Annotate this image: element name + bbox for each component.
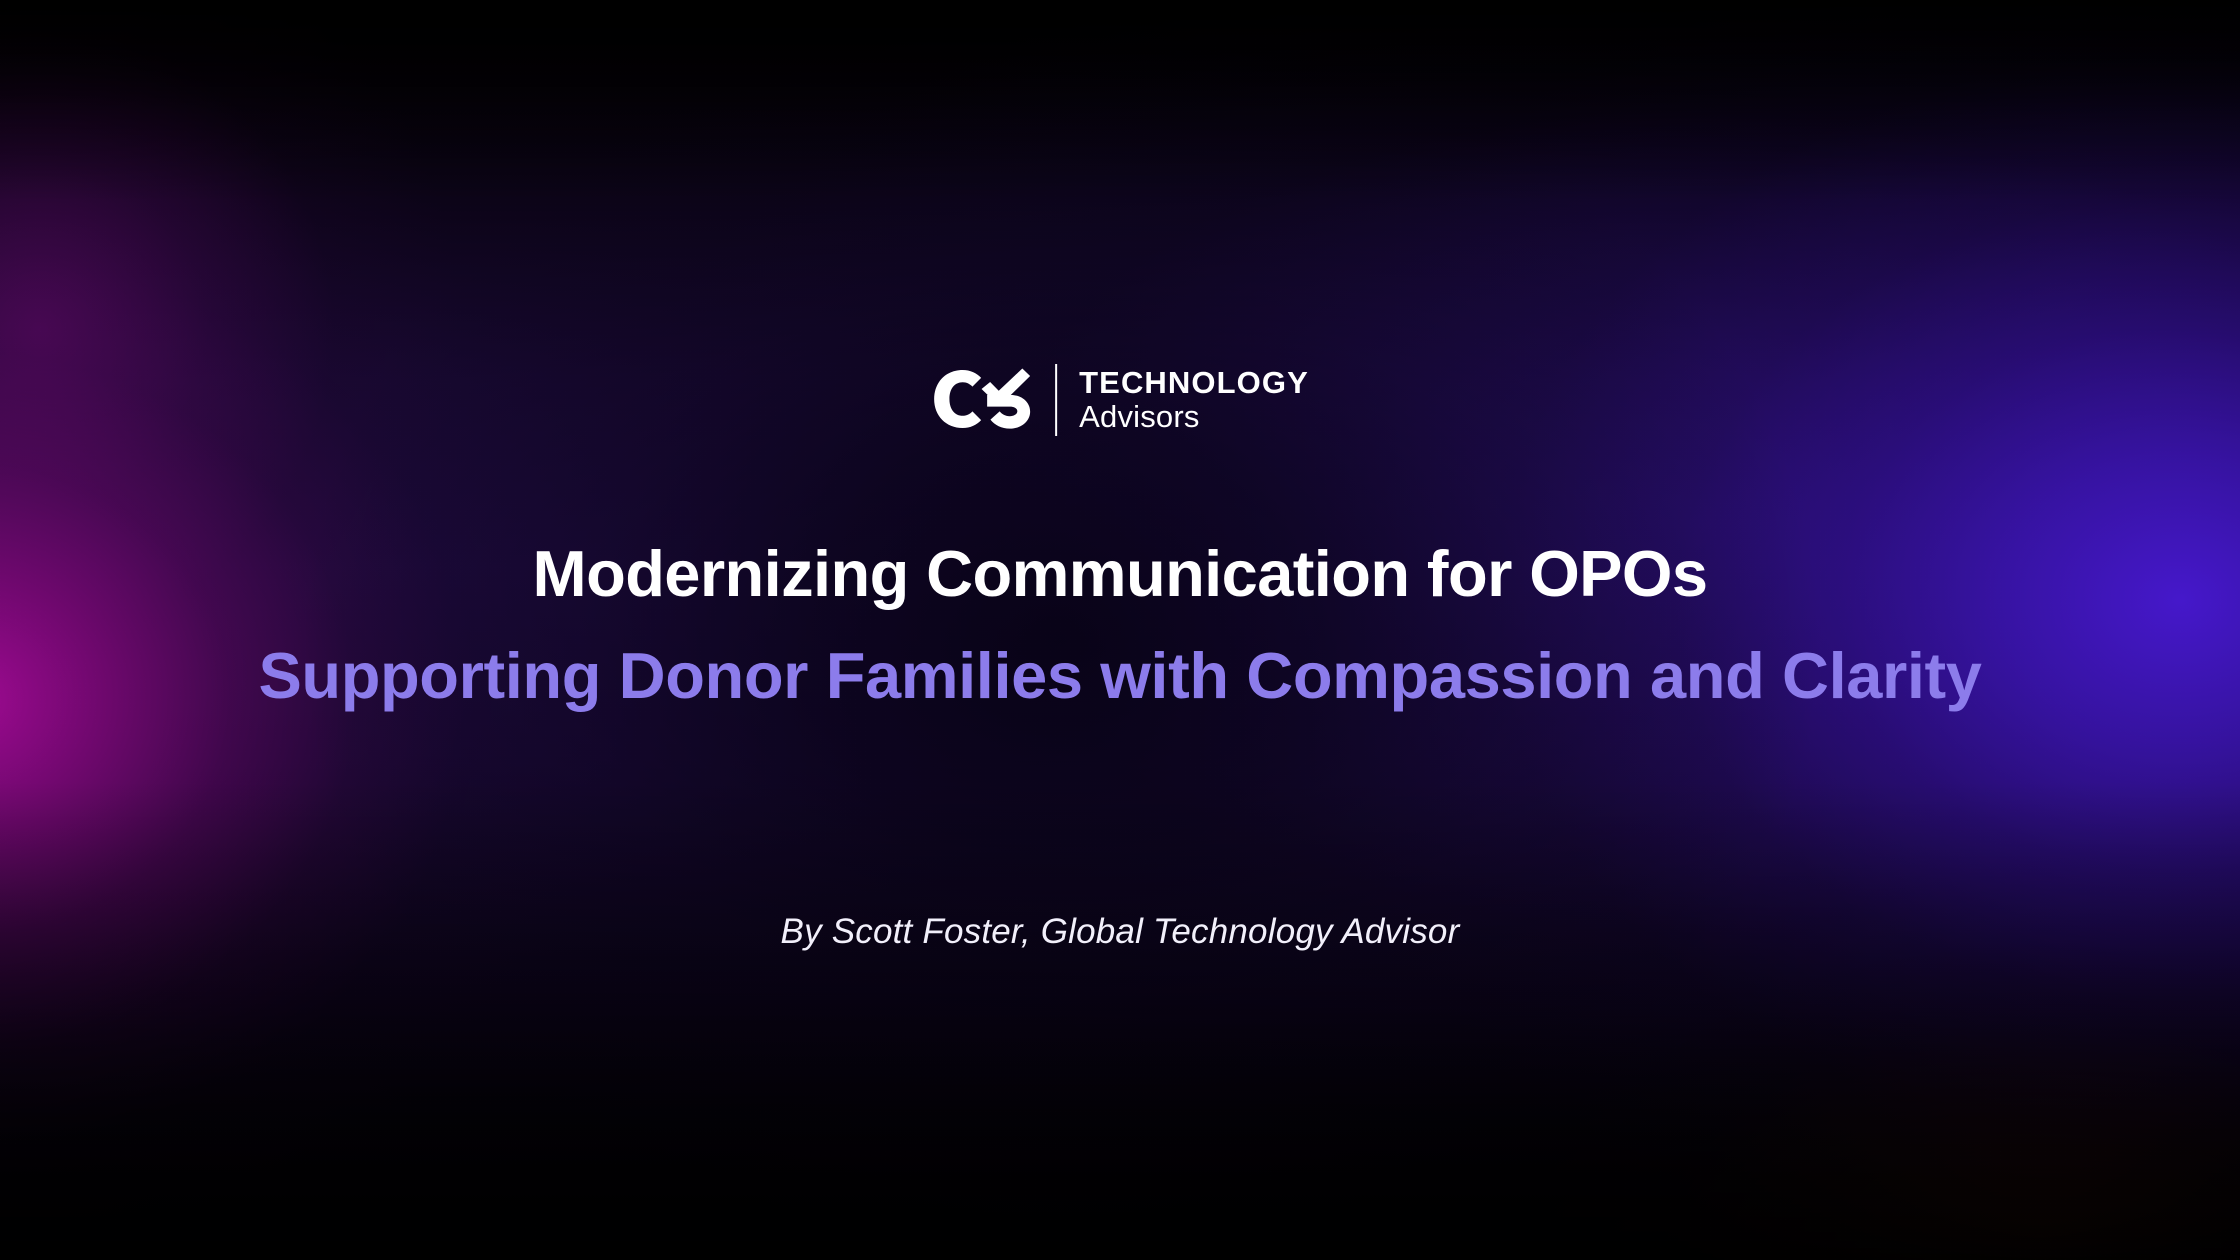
logo-divider — [1055, 364, 1057, 436]
title-block: Modernizing Communication for OPOs Suppo… — [0, 535, 2240, 715]
c3-checkmark-logo-icon — [931, 368, 1035, 432]
brand-logo-lockup: TECHNOLOGY Advisors — [931, 364, 1309, 436]
slide-content: TECHNOLOGY Advisors Modernizing Communic… — [0, 0, 2240, 1260]
brand-name-advisors: Advisors — [1079, 399, 1309, 434]
brand-name-technology: TECHNOLOGY — [1079, 366, 1309, 399]
slide-subtitle: Supporting Donor Families with Compassio… — [0, 637, 2240, 715]
brand-wordmark: TECHNOLOGY Advisors — [1079, 364, 1309, 436]
slide-title: Modernizing Communication for OPOs — [0, 535, 2240, 613]
slide-byline: By Scott Foster, Global Technology Advis… — [0, 910, 2240, 954]
title-slide: TECHNOLOGY Advisors Modernizing Communic… — [0, 0, 2240, 1260]
